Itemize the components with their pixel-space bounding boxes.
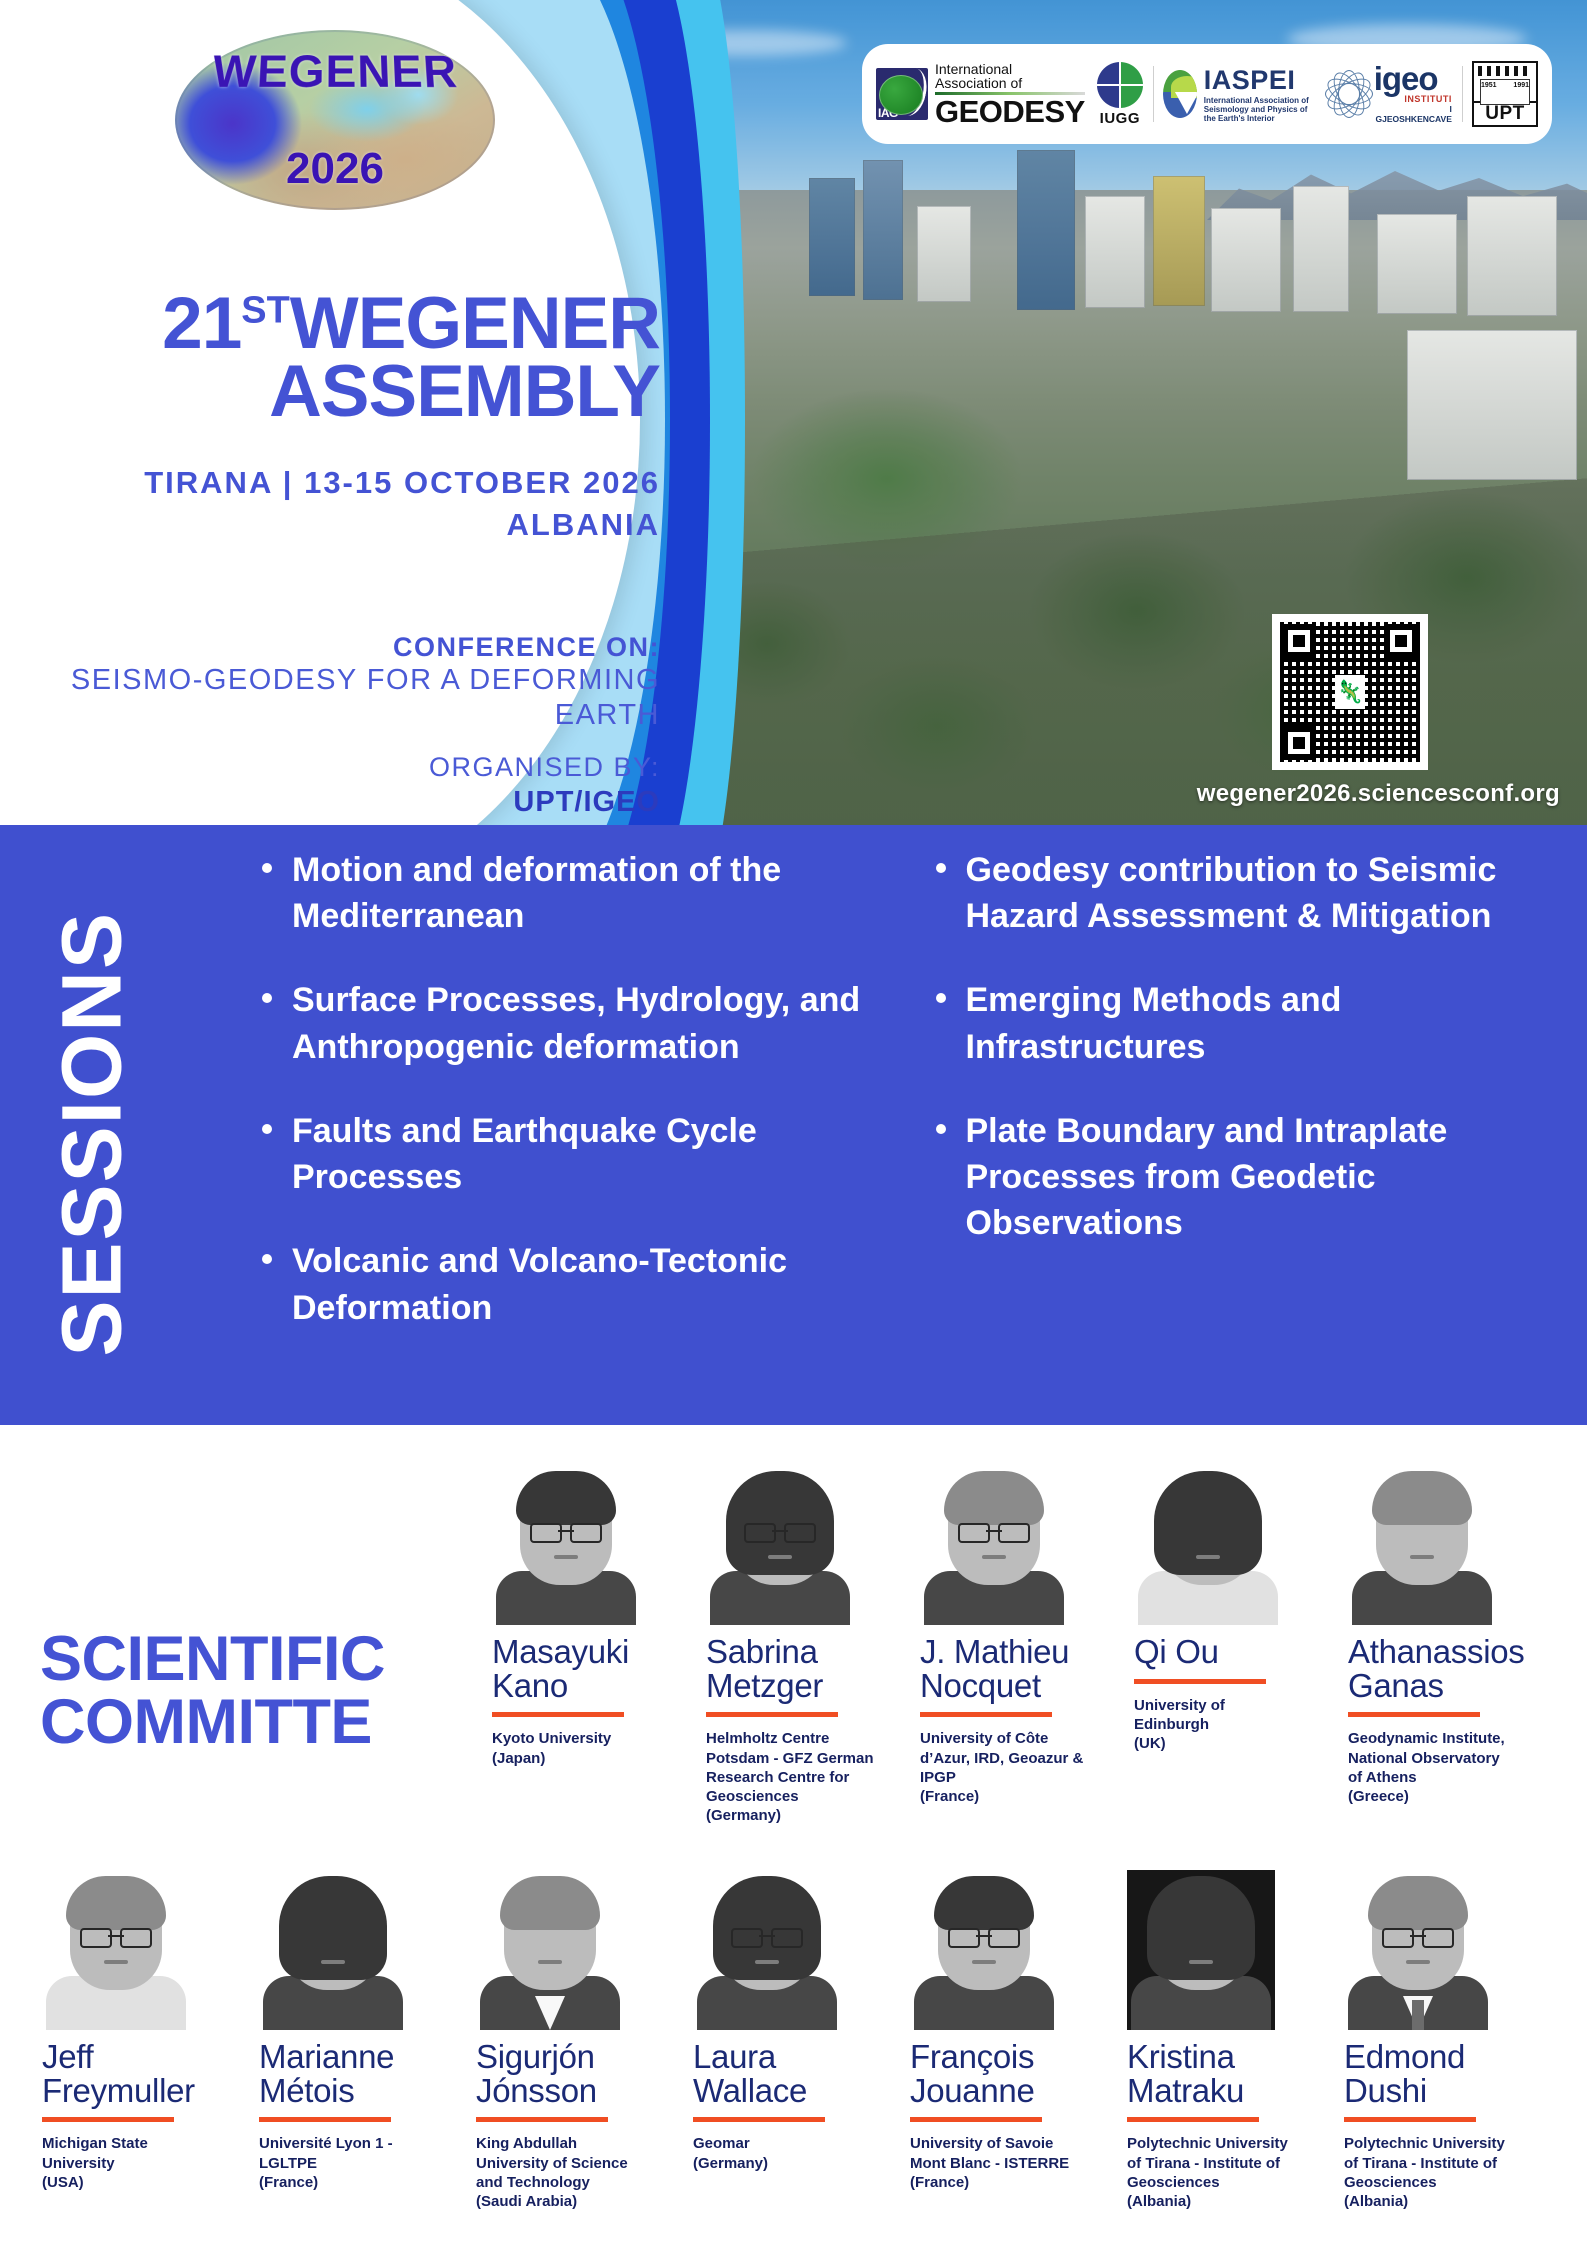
portrait-face — [938, 1882, 1030, 1990]
member-affiliation: King Abdullah University of Science and … — [476, 2134, 675, 2211]
upt-crest-icon — [1478, 66, 1532, 76]
upt-year1: 1951 — [1481, 82, 1497, 89]
member-affiliation: Geodynamic Institute, National Observato… — [1348, 1729, 1544, 1806]
portrait-face — [1372, 1882, 1464, 1990]
emblem-year: 2026 — [175, 144, 495, 194]
committee-member: J. Mathieu Nocquet University of Côte d’… — [920, 1465, 1134, 1825]
globe-net-icon — [1326, 72, 1372, 116]
portrait-face — [721, 1882, 813, 1990]
portrait-face — [287, 1882, 379, 1990]
committee-title-line2: COMMITTE — [40, 1691, 470, 1754]
avatar — [910, 1870, 1058, 2030]
member-affiliation: University of Côte d’Azur, IRD, Geoazur … — [920, 1729, 1116, 1806]
session-item: Faults and Earthquake Cycle Processes — [250, 1108, 880, 1200]
member-affiliation: Polytechnic University of Tirana - Insti… — [1127, 2134, 1326, 2211]
portrait-face — [1376, 1477, 1468, 1585]
qr-code-matrix[interactable]: 🦎 — [1280, 622, 1420, 762]
avatar — [476, 1870, 624, 2030]
organised-by-value: UPT/IGEO — [60, 786, 660, 819]
sessions-column-right: Geodesy contribution to Seismic Hazard A… — [924, 847, 1554, 1369]
portrait-face — [70, 1882, 162, 1990]
name-underline — [1134, 1679, 1266, 1684]
member-name: Edmond Dushi — [1344, 2040, 1543, 2107]
iaspei-subtitle: International Association of Seismology … — [1204, 96, 1310, 124]
portrait-face — [734, 1477, 826, 1585]
conference-on-label: CONFERENCE ON: — [60, 632, 660, 663]
member-name: Sigurjón Jónsson — [476, 2040, 675, 2107]
sponsor-logo-bar: IAG International Association of GEODESY… — [862, 44, 1552, 144]
member-affiliation: Geomar (Germany) — [693, 2134, 892, 2172]
iaspei-disc-icon — [1163, 70, 1197, 118]
sessions-list-right: Geodesy contribution to Seismic Hazard A… — [924, 847, 1554, 1247]
iaspei-label: IASPEI — [1204, 65, 1310, 96]
sessions-list-left: Motion and deformation of the Mediterran… — [250, 847, 880, 1331]
sessions-section: SESSIONS Motion and deformation of the M… — [0, 825, 1587, 1425]
member-affiliation: Kyoto University (Japan) — [492, 1729, 688, 1767]
committee-member: Edmond Dushi Polytechnic University of T… — [1344, 1870, 1561, 2211]
member-name: Marianne Métois — [259, 2040, 458, 2107]
committee-title-line1: SCIENTIFIC — [40, 1628, 470, 1691]
building — [1293, 186, 1349, 312]
name-underline — [476, 2117, 608, 2122]
emblem-word: WEGENER — [172, 45, 498, 98]
building — [863, 160, 903, 300]
event-country: ALBANIA — [60, 504, 660, 546]
session-item: Motion and deformation of the Mediterran… — [250, 847, 880, 939]
igeo-logo: igeo INSTITUTI I GJEOSHKENCAVE — [1326, 64, 1452, 124]
avatar — [706, 1465, 854, 1625]
building — [1377, 214, 1457, 314]
name-underline — [1348, 1712, 1480, 1717]
committee-member: Sabrina Metzger Helmholtz Centre Potsdam… — [706, 1465, 920, 1825]
committee-member: Qi Ou University of Edinburgh (UK) — [1134, 1465, 1348, 1825]
member-name: Qi Ou — [1134, 1635, 1330, 1669]
igeo-label: igeo — [1374, 64, 1452, 94]
avatar — [1127, 1870, 1275, 2030]
hero-section: WEGENER 2026 IAG International Associati… — [0, 0, 1587, 825]
sessions-heading: SESSIONS — [44, 937, 141, 1357]
building — [1211, 208, 1281, 312]
qr-finder-icon — [1282, 624, 1316, 658]
member-name: Athanassios Ganas — [1348, 1635, 1544, 1702]
name-underline — [706, 1712, 838, 1717]
iaspei-logo: IASPEI International Association of Seis… — [1163, 65, 1310, 124]
upt-year2: 1991 — [1513, 82, 1529, 89]
portrait-face — [948, 1477, 1040, 1585]
title-second-line: ASSEMBLY — [269, 351, 660, 432]
name-underline — [1344, 2117, 1476, 2122]
iag-line2: GEODESY — [935, 96, 1085, 127]
iag-logo: IAG International Association of GEODESY — [876, 62, 1085, 127]
avatar — [259, 1870, 407, 2030]
title-ordinal-suffix: ST — [241, 290, 290, 332]
name-underline — [1127, 2117, 1259, 2122]
sessions-column-left: Motion and deformation of the Mediterran… — [250, 847, 880, 1369]
event-city-dates: TIRANA | 13-15 OCTOBER 2026 — [60, 462, 660, 504]
qr-finder-icon — [1384, 624, 1418, 658]
committee-row-2: Jeff Freymuller Michigan State Universit… — [42, 1870, 1562, 2211]
conference-topic: SEISMO-GEODESY FOR A DEFORMING EARTH — [20, 663, 660, 734]
member-affiliation: Helmholtz Centre Potsdam - GFZ German Re… — [706, 1729, 902, 1825]
event-date-location: TIRANA | 13-15 OCTOBER 2026 ALBANIA — [60, 462, 660, 546]
building — [809, 178, 855, 296]
member-name: J. Mathieu Nocquet — [920, 1635, 1116, 1702]
committee-member: Laura Wallace Geomar (Germany) — [693, 1870, 910, 2211]
iugg-logo: IUGG — [1097, 62, 1143, 127]
conference-poster: WEGENER 2026 IAG International Associati… — [0, 0, 1587, 2245]
conference-website-url[interactable]: wegener2026.sciencesconf.org — [1090, 780, 1560, 808]
organised-by-label: ORGANISED BY: — [60, 752, 660, 783]
committee-member: Masayuki Kano Kyoto University (Japan) — [492, 1465, 706, 1825]
portrait-face — [1162, 1477, 1254, 1585]
wegener-emblem-logo: WEGENER 2026 — [175, 30, 495, 210]
avatar — [492, 1465, 640, 1625]
session-item: Volcanic and Volcano-Tectonic Deformatio… — [250, 1238, 880, 1330]
qr-code[interactable]: 🦎 — [1272, 614, 1428, 770]
iugg-label: IUGG — [1100, 110, 1140, 127]
building — [917, 206, 971, 302]
session-item: Emerging Methods and Infrastructures — [924, 977, 1554, 1069]
portrait-face — [504, 1882, 596, 1990]
member-name: Sabrina Metzger — [706, 1635, 902, 1702]
portrait-face — [1155, 1882, 1247, 1990]
committee-member: Kristina Matraku Polytechnic University … — [1127, 1870, 1344, 2211]
name-underline — [693, 2117, 825, 2122]
portrait-face — [520, 1477, 612, 1585]
name-underline — [492, 1712, 624, 1717]
member-name: Jeff Freymuller — [42, 2040, 241, 2107]
member-affiliation: University of Edinburgh (UK) — [1134, 1696, 1330, 1754]
title-ordinal: 21 — [162, 283, 241, 364]
avatar — [1344, 1870, 1492, 2030]
building — [1017, 150, 1075, 310]
name-underline — [910, 2117, 1042, 2122]
committee-member: Marianne Métois Université Lyon 1 - LGLT… — [259, 1870, 476, 2211]
name-underline — [259, 2117, 391, 2122]
member-affiliation: University of Savoie Mont Blanc - ISTERR… — [910, 2134, 1109, 2192]
avatar — [693, 1870, 841, 2030]
iag-line1: International Association of — [935, 62, 1085, 90]
building — [1085, 196, 1145, 308]
committee-row-1: Masayuki Kano Kyoto University (Japan) S… — [492, 1465, 1562, 1825]
igeo-sub2: I GJEOSHKENCAVE — [1374, 104, 1452, 124]
member-affiliation: Université Lyon 1 - LGLTPE (France) — [259, 2134, 458, 2192]
committee-member: François Jouanne University of Savoie Mo… — [910, 1870, 1127, 2211]
scientific-committee-heading: SCIENTIFIC COMMITTE — [40, 1628, 470, 1754]
qr-finder-icon — [1282, 726, 1316, 760]
name-underline — [920, 1712, 1052, 1717]
upt-logo: 1951 1991 UPT — [1472, 61, 1538, 127]
member-name: Masayuki Kano — [492, 1635, 688, 1702]
iugg-disc-icon — [1097, 62, 1143, 108]
portrait-tie — [1412, 2000, 1424, 2030]
building — [1153, 176, 1205, 306]
building — [1467, 196, 1557, 316]
member-name: François Jouanne — [910, 2040, 1109, 2107]
member-affiliation: Michigan State University (USA) — [42, 2134, 241, 2192]
committee-member: Athanassios Ganas Geodynamic Institute, … — [1348, 1465, 1562, 1825]
avatar — [920, 1465, 1068, 1625]
avatar — [42, 1870, 190, 2030]
member-name: Kristina Matraku — [1127, 2040, 1326, 2107]
avatar — [1134, 1465, 1282, 1625]
poster-main-title: 21STWEGENER ASSEMBLY — [60, 290, 660, 426]
committee-member: Sigurjón Jónsson King Abdullah Universit… — [476, 1870, 693, 2211]
dinosaur-icon: 🦎 — [1335, 675, 1365, 709]
session-item: Geodesy contribution to Seismic Hazard A… — [924, 847, 1554, 939]
session-item: Surface Processes, Hydrology, and Anthro… — [250, 977, 880, 1069]
committee-member: Jeff Freymuller Michigan State Universit… — [42, 1870, 259, 2211]
member-affiliation: Polytechnic University of Tirana - Insti… — [1344, 2134, 1543, 2211]
globe-icon: IAG — [876, 68, 928, 120]
avatar — [1348, 1465, 1496, 1625]
session-item: Plate Boundary and Intraplate Processes … — [924, 1108, 1554, 1247]
member-name: Laura Wallace — [693, 2040, 892, 2107]
name-underline — [42, 2117, 174, 2122]
building — [1407, 330, 1577, 480]
